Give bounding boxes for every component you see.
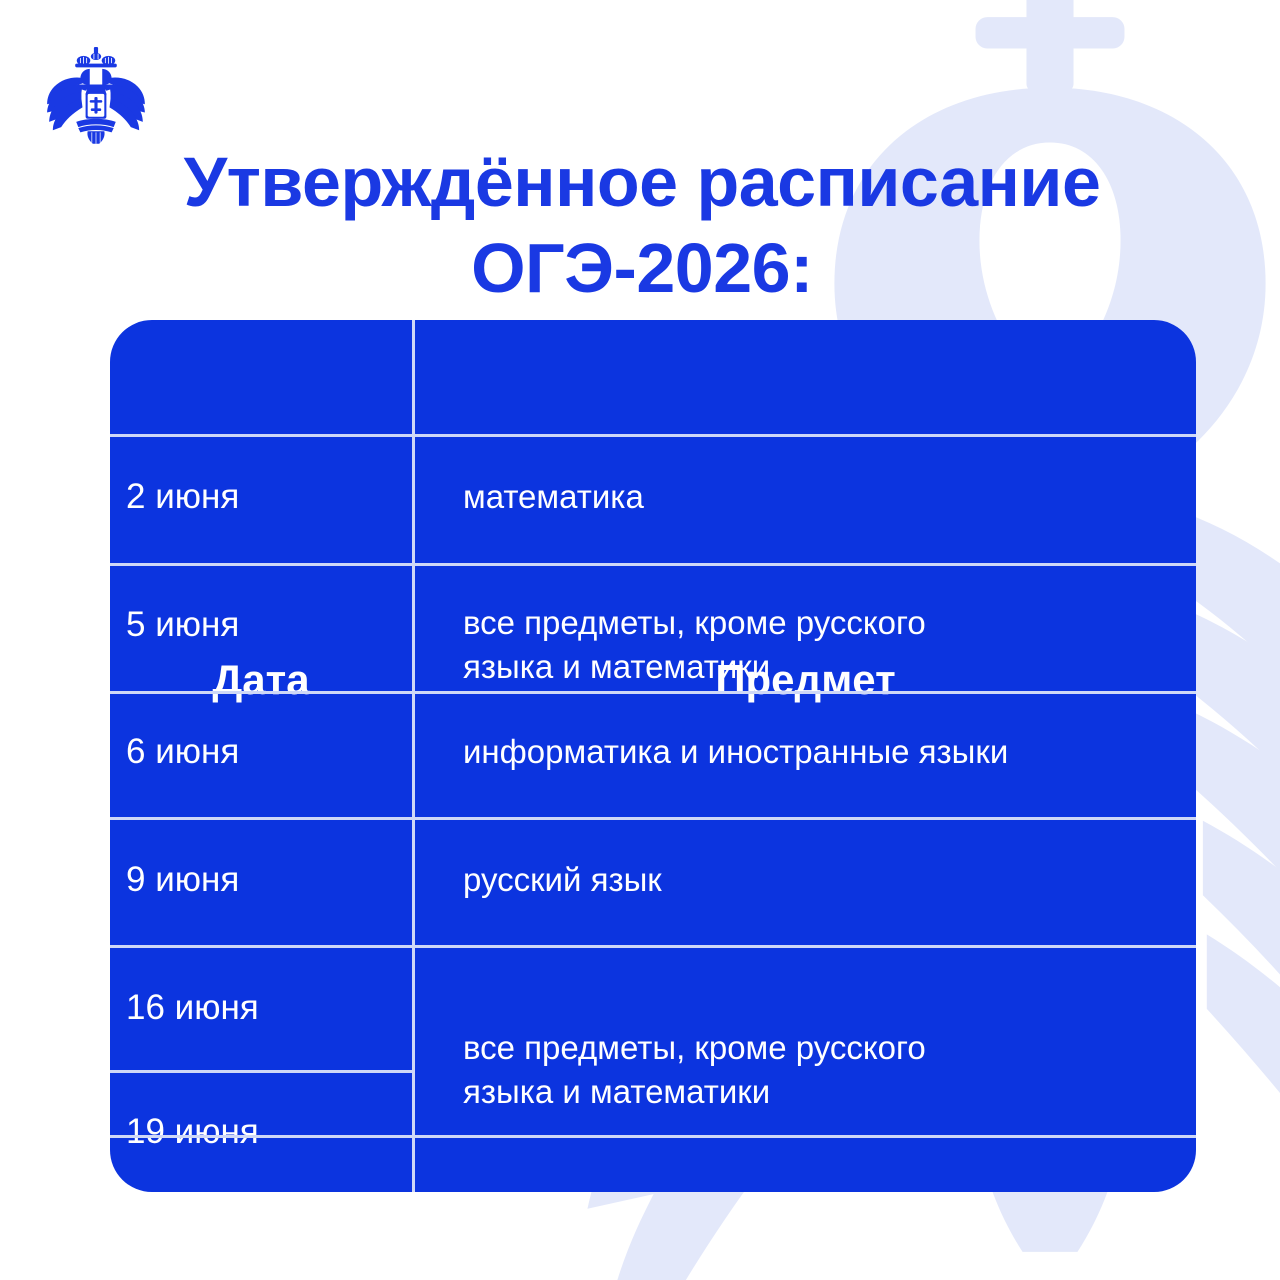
subject-line: все предметы, кроме русского — [463, 601, 1176, 645]
row-divider — [110, 434, 1196, 437]
infographic-page: Утверждённое расписание ОГЭ-2026: Дата П… — [0, 0, 1280, 1280]
double-headed-eagle-icon — [44, 46, 148, 145]
table-row: 2 июня — [110, 475, 412, 519]
merged-subject-cell: все предметы, кроме русского языка и мат… — [415, 1026, 1196, 1114]
table-row: 19 июня — [110, 1110, 412, 1154]
schedule-table: Дата Предмет 2 июня математика 5 июня вс… — [110, 320, 1196, 1192]
row-divider — [110, 691, 1196, 694]
table-row: математика — [415, 475, 1196, 519]
table-grid: Дата Предмет 2 июня математика 5 июня вс… — [110, 320, 1196, 1192]
table-row: 6 июня — [110, 730, 412, 774]
table-row: 16 июня — [110, 986, 412, 1030]
subject-line: языка и математики — [463, 645, 1176, 689]
rosobrnadzor-logo — [44, 46, 148, 142]
row-divider — [110, 817, 1196, 820]
subject-line: языка и математики — [463, 1070, 1176, 1114]
row-divider — [110, 1135, 1196, 1138]
row-divider — [110, 563, 1196, 566]
page-title: Утверждённое расписание ОГЭ-2026: — [72, 139, 1212, 311]
table-row: 5 июня — [110, 603, 412, 647]
table-header-date: Дата — [110, 656, 412, 704]
table-row: все предметы, кроме русского языка и мат… — [415, 601, 1196, 689]
subject-line: все предметы, кроме русского — [463, 1026, 1176, 1070]
row-divider — [110, 1070, 412, 1073]
row-divider — [110, 945, 1196, 948]
table-row: информатика и иностранные языки — [415, 730, 1196, 774]
table-row: 9 июня — [110, 858, 412, 902]
table-row: русский язык — [415, 858, 1196, 902]
